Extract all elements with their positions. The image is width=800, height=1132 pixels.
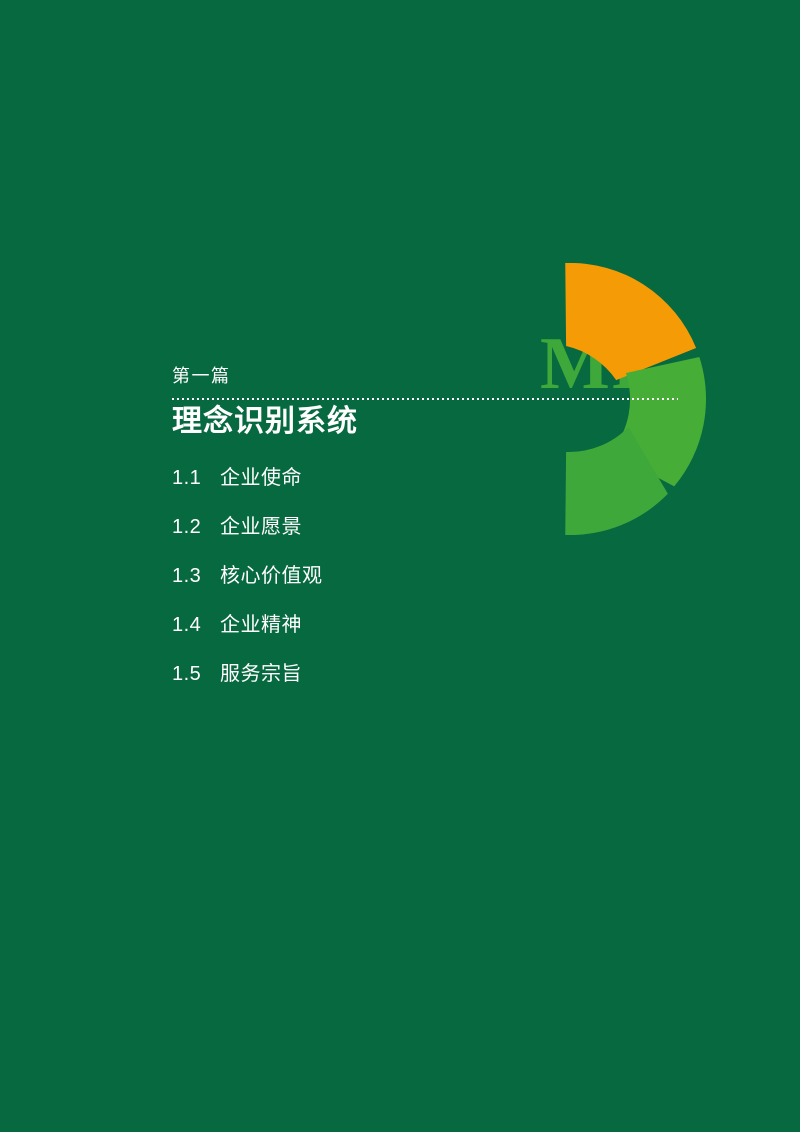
toc-item-number: 1.4 xyxy=(172,611,220,639)
page-root: MI 第一篇 理念识别系统 1.1 企业使命 1.2 企业愿景 xyxy=(0,0,800,1132)
toc-item-label: 企业愿景 xyxy=(220,513,302,541)
toc-item[interactable]: 1.3 核心价值观 xyxy=(172,562,692,611)
toc-item[interactable]: 1.4 企业精神 xyxy=(172,611,692,660)
section-kicker: 第一篇 xyxy=(172,364,692,388)
toc-item-number: 1.1 xyxy=(172,464,220,492)
toc-item-label: 企业精神 xyxy=(220,611,302,639)
toc-item[interactable]: 1.5 服务宗旨 xyxy=(172,660,692,709)
toc-item-number: 1.5 xyxy=(172,660,220,688)
toc-item[interactable]: 1.1 企业使命 xyxy=(172,464,692,513)
toc-item-label: 企业使命 xyxy=(220,464,302,492)
toc-item-label: 核心价值观 xyxy=(220,562,323,590)
content-block: 第一篇 理念识别系统 1.1 企业使命 1.2 企业愿景 1.3 核心价值观 1… xyxy=(172,364,692,709)
page-title: 理念识别系统 xyxy=(172,388,692,442)
table-of-contents: 1.1 企业使命 1.2 企业愿景 1.3 核心价值观 1.4 企业精神 1.5… xyxy=(172,442,692,709)
toc-item-number: 1.2 xyxy=(172,513,220,541)
toc-item-number: 1.3 xyxy=(172,562,220,590)
toc-item-label: 服务宗旨 xyxy=(220,660,302,688)
toc-item[interactable]: 1.2 企业愿景 xyxy=(172,513,692,562)
